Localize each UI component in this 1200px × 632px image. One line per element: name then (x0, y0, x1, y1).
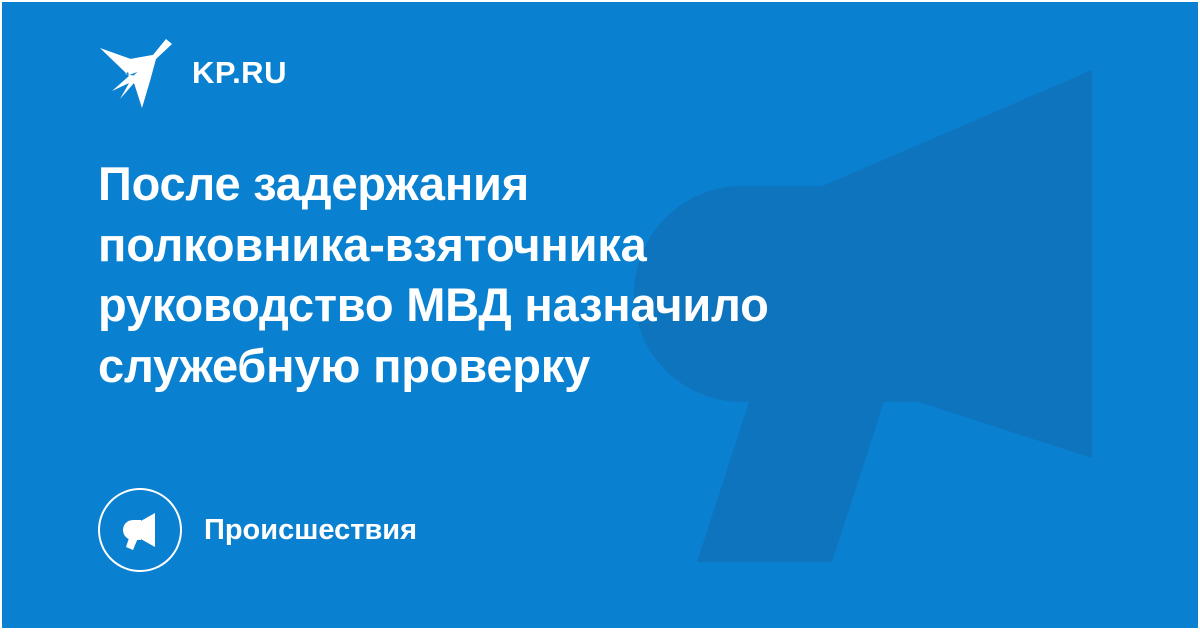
page-title: После задержания полковника-взяточника р… (98, 154, 998, 397)
category-label: Происшествия (204, 516, 417, 545)
social-share-card: KP.RU После задержания полковника-взяточ… (2, 2, 1198, 628)
megaphone-icon (117, 507, 163, 553)
headline-line: После задержания (98, 154, 998, 215)
brand-logo[interactable]: KP.RU (98, 34, 287, 110)
headline-line: служебную проверку (98, 336, 998, 397)
headline-line: полковника-взяточника (98, 215, 998, 276)
headline-line: руководство МВД назначило (98, 275, 998, 336)
brand-name: KP.RU (192, 57, 287, 88)
swallow-bird-icon (98, 36, 176, 108)
category-icon-circle (98, 488, 182, 572)
category-badge[interactable]: Происшествия (98, 487, 417, 573)
